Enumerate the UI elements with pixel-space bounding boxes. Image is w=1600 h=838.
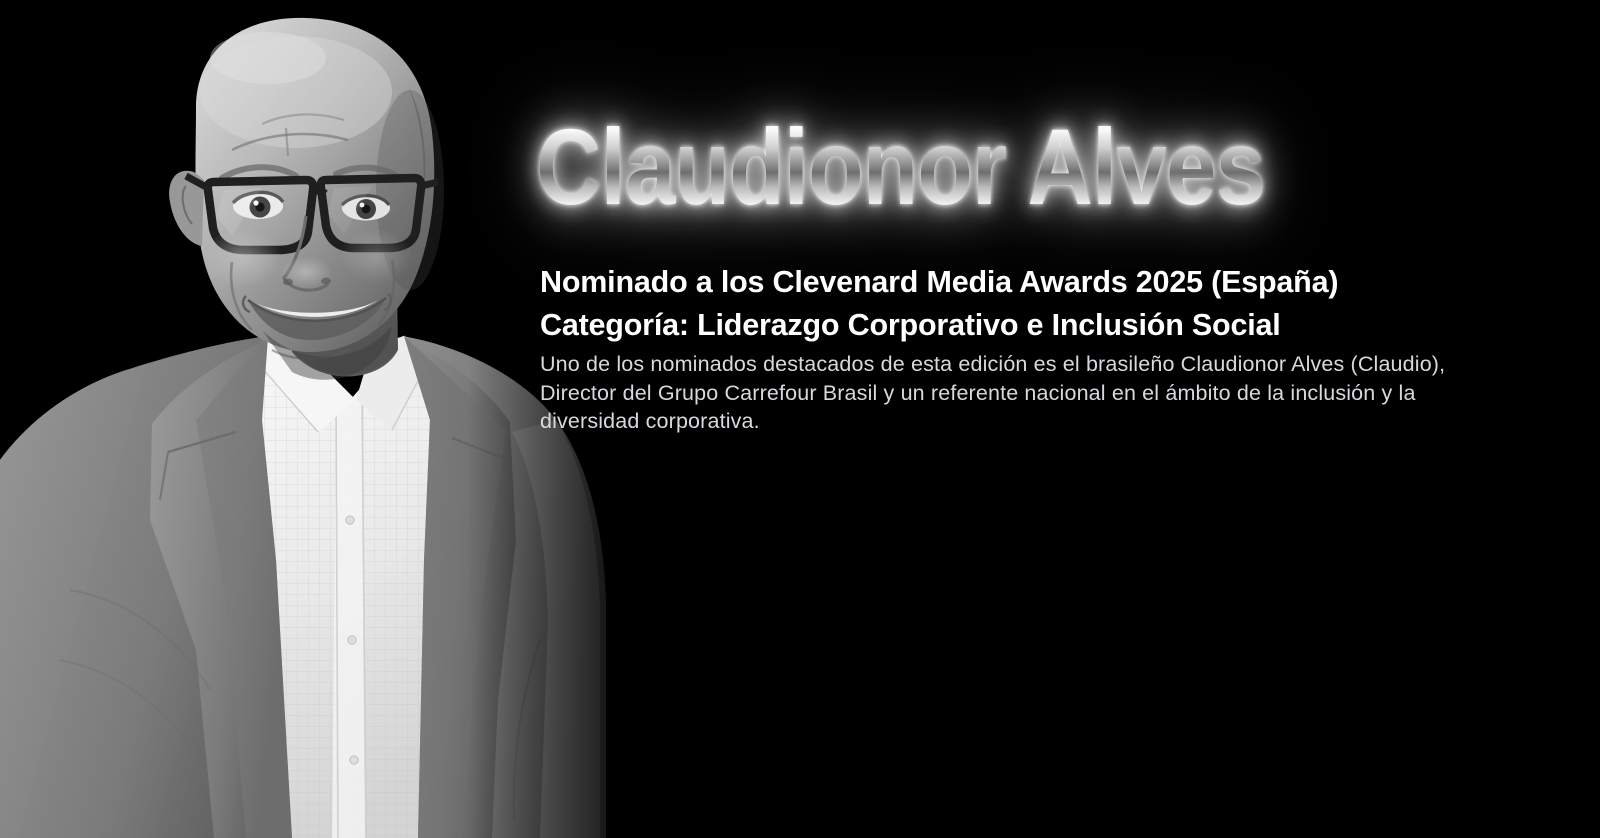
description-block: Uno de los nominados destacados de esta … (540, 350, 1465, 436)
award-nomination-banner: Claudionor Alves Nominado a los Clevenar… (0, 0, 1600, 838)
page-title: Claudionor Alves (536, 112, 1342, 222)
description-paragraph: Uno de los nominados destacados de esta … (540, 350, 1465, 436)
subheading-block: Nominado a los Clevenard Media Awards 20… (540, 261, 1480, 347)
nomination-line: Nominado a los Clevenard Media Awards 20… (540, 261, 1480, 304)
title-block: Claudionor Alves (536, 112, 1496, 252)
category-line: Categoría: Liderazgo Corporativo e Inclu… (540, 304, 1480, 347)
